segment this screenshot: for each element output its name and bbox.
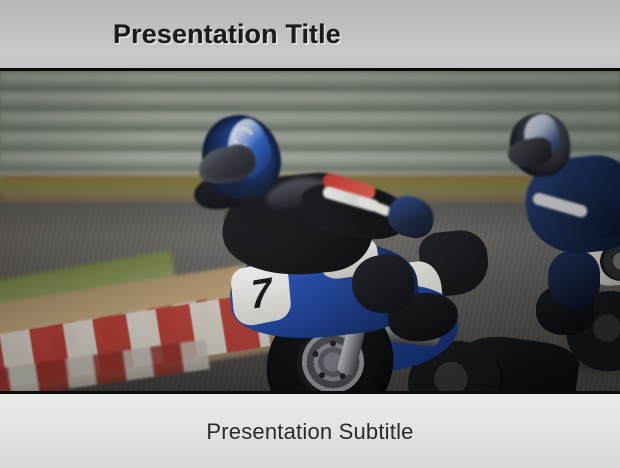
second-rider-leg xyxy=(548,251,600,307)
page-subtitle[interactable]: Presentation Subtitle xyxy=(206,419,413,445)
motorcycle-racing-photo: 7 xyxy=(0,71,620,391)
lead-rider: 7 xyxy=(170,105,500,391)
slide-image-frame[interactable]: 7 xyxy=(0,68,620,394)
second-rider xyxy=(492,101,620,351)
race-number: 7 xyxy=(248,271,275,316)
presentation-slide: Presentation Title xyxy=(0,0,620,468)
subtitle-band: Presentation Subtitle xyxy=(0,394,620,468)
title-band: Presentation Title xyxy=(0,0,620,68)
page-title[interactable]: Presentation Title xyxy=(113,19,341,50)
